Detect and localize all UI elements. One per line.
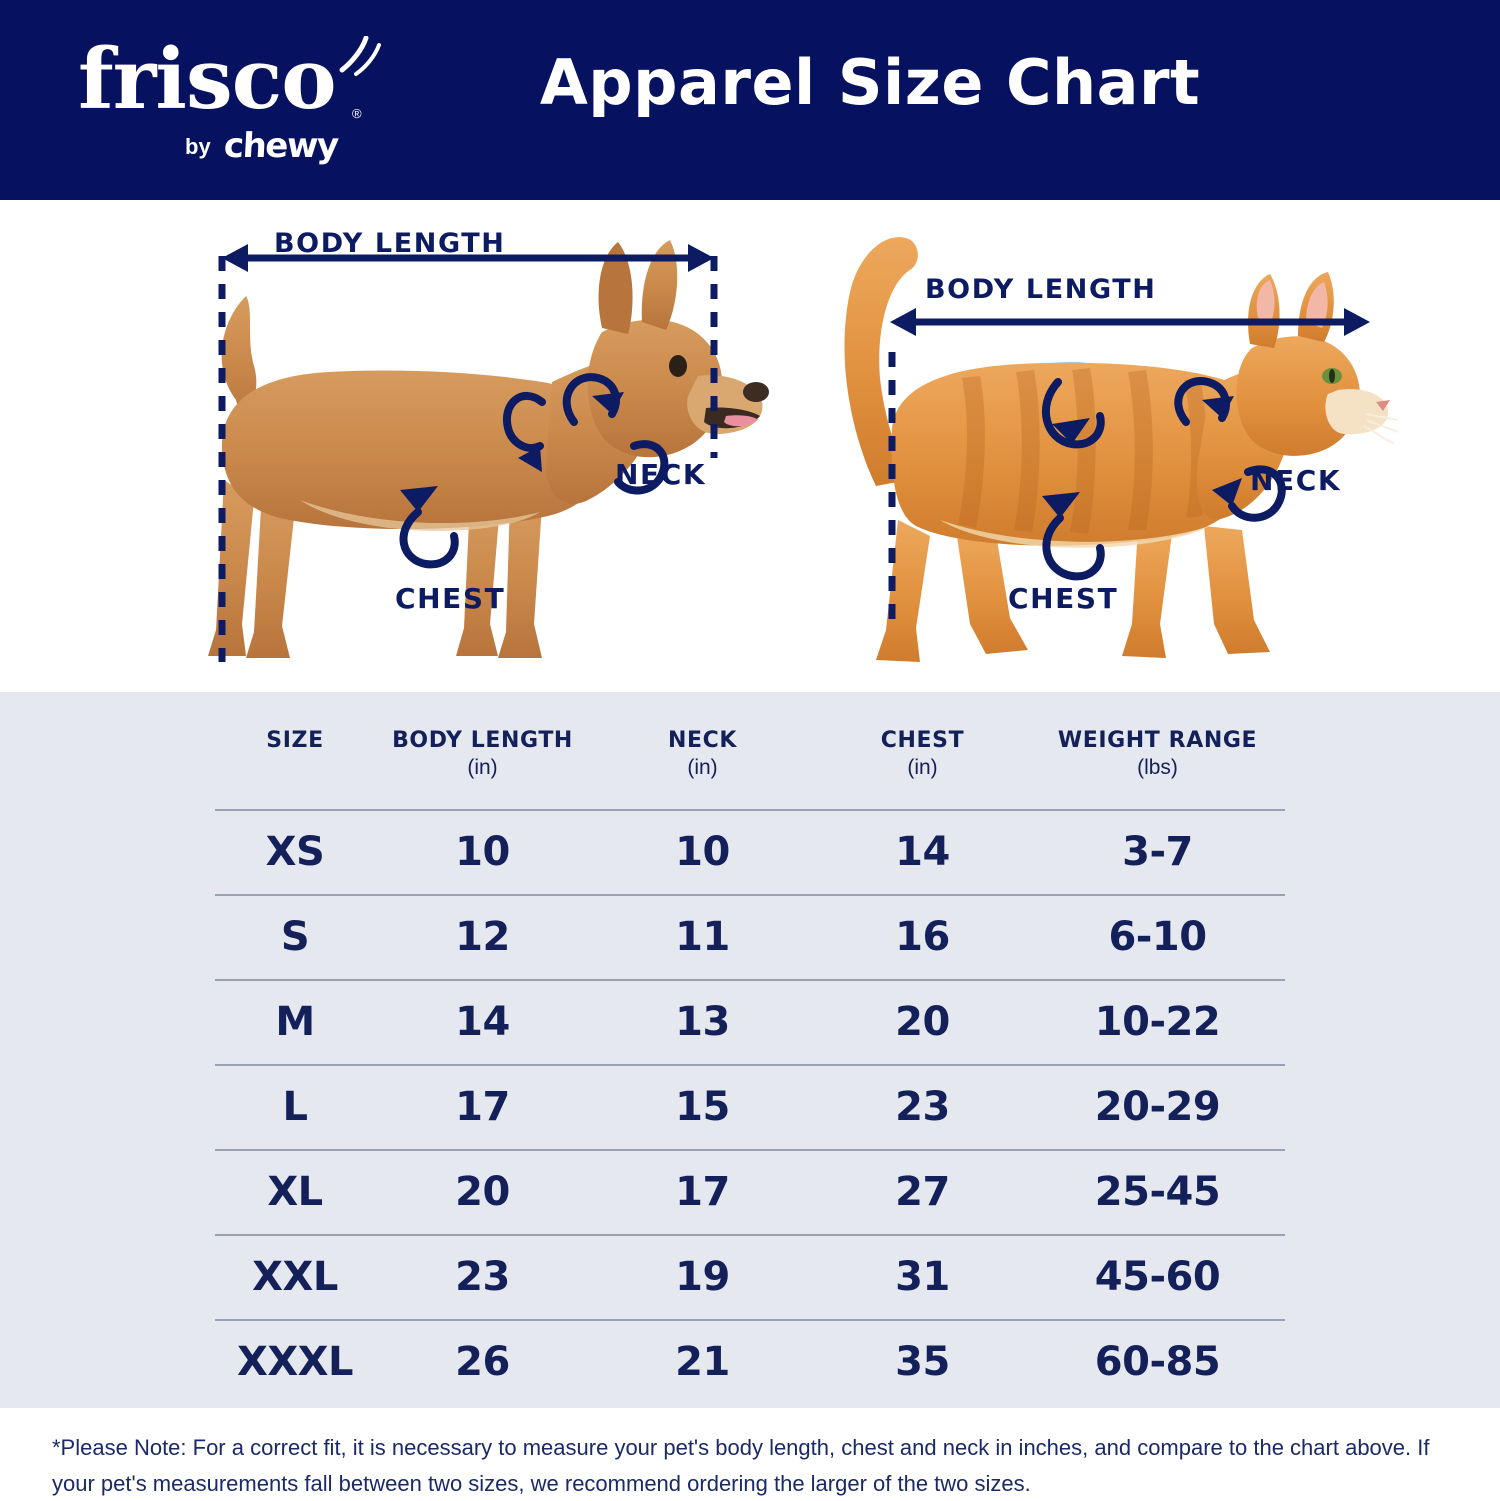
cat-pupil [1329, 369, 1335, 383]
cell-body-length: 10 [375, 810, 590, 895]
cell-chest: 27 [815, 1150, 1030, 1235]
column-header-weight-range-unit: (lbs) [1030, 756, 1285, 781]
cell-size: XS [215, 810, 375, 895]
table-row: XXXL 26 21 35 60-85 [215, 1320, 1285, 1404]
cell-weight-range: 45-60 [1030, 1235, 1285, 1320]
column-header-neck: NECK (in) [590, 714, 815, 810]
cell-size: L [215, 1065, 375, 1150]
page-footer: *Please Note: For a correct fit, it is n… [0, 1408, 1500, 1500]
cell-weight-range: 25-45 [1030, 1150, 1285, 1235]
cat-arrowhead-right [1344, 308, 1370, 336]
table-row: XXL 23 19 31 45-60 [215, 1235, 1285, 1320]
cell-weight-range: 60-85 [1030, 1320, 1285, 1404]
column-header-neck-unit: (in) [590, 756, 815, 781]
illustration-band: BODY LENGTH NECK CHEST [0, 200, 1500, 692]
dog-neck-label: NECK [615, 458, 706, 491]
table-row: S 12 11 16 6-10 [215, 895, 1285, 980]
dog-eye [669, 355, 687, 377]
table-row: L 17 15 23 20-29 [215, 1065, 1285, 1150]
column-header-body-length-text: BODY LENGTH [392, 728, 573, 753]
cell-weight-range: 6-10 [1030, 895, 1285, 980]
table-body: XS 10 10 14 3-7 S 12 11 16 6-10 M 14 13 [215, 810, 1285, 1404]
cell-weight-range: 20-29 [1030, 1065, 1285, 1150]
cat-chest-label: CHEST [1008, 582, 1118, 615]
cell-chest: 35 [815, 1320, 1030, 1404]
cell-size: XL [215, 1150, 375, 1235]
cell-body-length: 20 [375, 1150, 590, 1235]
cat-neck-label: NECK [1250, 464, 1341, 497]
cell-neck: 11 [590, 895, 815, 980]
size-chart-page: frisco ® by chewy Apparel Size Chart [0, 0, 1500, 1500]
footnote-text: *Please Note: For a correct fit, it is n… [52, 1430, 1452, 1501]
column-header-size: SIZE [215, 714, 375, 810]
cell-size: XXL [215, 1235, 375, 1320]
cell-weight-range: 10-22 [1030, 980, 1285, 1065]
column-header-chest: CHEST (in) [815, 714, 1030, 810]
cat-muzzle [1325, 389, 1388, 434]
cell-body-length: 14 [375, 980, 590, 1065]
cell-chest: 16 [815, 895, 1030, 980]
dog-nose [743, 382, 769, 402]
dog-illustration: BODY LENGTH NECK CHEST [150, 200, 770, 692]
cell-size: M [215, 980, 375, 1065]
cell-neck: 21 [590, 1320, 815, 1404]
cell-body-length: 12 [375, 895, 590, 980]
column-header-body-length-unit: (in) [375, 756, 590, 781]
table-row: M 14 13 20 10-22 [215, 980, 1285, 1065]
cell-size: XXXL [215, 1320, 375, 1404]
cat-body-length-label: BODY LENGTH [925, 274, 1156, 305]
column-header-weight-range: WEIGHT RANGE (lbs) [1030, 714, 1285, 810]
size-table-section: SIZE BODY LENGTH (in) NECK (in) CHEST (i… [0, 692, 1500, 1408]
cell-neck: 10 [590, 810, 815, 895]
cat-front-leg-far [1122, 528, 1172, 658]
dog-arrowhead-left [222, 244, 248, 272]
cell-chest: 14 [815, 810, 1030, 895]
column-header-weight-range-text: WEIGHT RANGE [1058, 728, 1257, 753]
cell-neck: 19 [590, 1235, 815, 1320]
cell-chest: 20 [815, 980, 1030, 1065]
cell-chest: 23 [815, 1065, 1030, 1150]
cell-neck: 17 [590, 1150, 815, 1235]
cat-hind-leg-far [876, 520, 930, 662]
logo-by-text: by [185, 134, 211, 160]
table-row: XS 10 10 14 3-7 [215, 810, 1285, 895]
logo-chewy-text: chewy [223, 126, 339, 166]
dog-arrowhead-right [688, 244, 714, 272]
dog-chest-label: CHEST [395, 582, 505, 615]
column-header-chest-unit: (in) [815, 756, 1030, 781]
column-header-chest-text: CHEST [881, 728, 964, 753]
cell-body-length: 26 [375, 1320, 590, 1404]
dog-ear-near [642, 240, 677, 330]
dog-body-length-label: BODY LENGTH [274, 228, 505, 259]
cell-neck: 13 [590, 980, 815, 1065]
cell-neck: 15 [590, 1065, 815, 1150]
column-header-body-length: BODY LENGTH (in) [375, 714, 590, 810]
page-title: Apparel Size Chart [0, 46, 1500, 119]
table-row: XL 20 17 27 25-45 [215, 1150, 1285, 1235]
table-head: SIZE BODY LENGTH (in) NECK (in) CHEST (i… [215, 714, 1285, 810]
cell-weight-range: 3-7 [1030, 810, 1285, 895]
cell-body-length: 17 [375, 1065, 590, 1150]
cat-arrowhead-left [890, 308, 916, 336]
dog-hind-leg-far [208, 480, 254, 656]
cell-size: S [215, 895, 375, 980]
cat-front-leg-near [1204, 526, 1270, 654]
cat-illustration: BODY LENGTH NECK CHEST [780, 200, 1400, 692]
column-header-size-text: SIZE [266, 728, 323, 753]
dog-figure [150, 200, 770, 692]
column-header-neck-text: NECK [668, 728, 737, 753]
table-header-row: SIZE BODY LENGTH (in) NECK (in) CHEST (i… [215, 714, 1285, 810]
cell-body-length: 23 [375, 1235, 590, 1320]
size-table: SIZE BODY LENGTH (in) NECK (in) CHEST (i… [215, 714, 1285, 1404]
page-header: frisco ® by chewy Apparel Size Chart [0, 0, 1500, 200]
cell-chest: 31 [815, 1235, 1030, 1320]
